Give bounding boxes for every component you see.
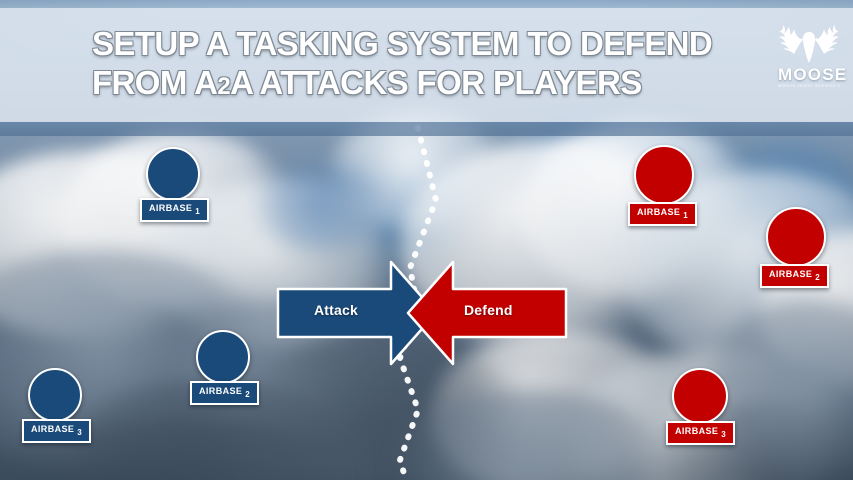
airbase-dot [146, 147, 200, 201]
airbase-marker-red-1[interactable]: AIRBASE 1 [634, 145, 694, 205]
airbase-label-text: AIRBASE [637, 207, 680, 217]
slide-canvas: AIRBASE 1 AIRBASE 2 AIRBASE 3 AIRBASE 1 … [0, 0, 853, 480]
airbase-label: AIRBASE 2 [760, 264, 829, 288]
title-line-2c: A ATTACKS FOR PLAYERS [230, 64, 642, 101]
airbase-marker-red-3[interactable]: AIRBASE 3 [672, 368, 728, 424]
airbase-dot [196, 330, 250, 384]
airbase-label-number: 2 [245, 390, 250, 399]
airbase-dot [766, 207, 826, 267]
airbase-dot [28, 368, 82, 422]
title-line-2b: 2 [217, 73, 230, 100]
airbase-label-number: 3 [77, 428, 82, 437]
airbase-dot [634, 145, 694, 205]
airbase-label-number: 1 [683, 211, 688, 220]
title-line-2a: FROM A [92, 64, 217, 101]
airbase-dot [672, 368, 728, 424]
airbase-label: AIRBASE 1 [628, 202, 697, 226]
airbase-label: AIRBASE 1 [140, 198, 209, 222]
airbase-label-number: 3 [721, 430, 726, 439]
airbase-marker-blue-1[interactable]: AIRBASE 1 [146, 147, 200, 201]
airbase-marker-blue-2[interactable]: AIRBASE 2 [196, 330, 250, 384]
logo-wordmark: MOOSE [778, 67, 840, 83]
header-underline-strip [0, 122, 853, 136]
airbase-label: AIRBASE 3 [22, 419, 91, 443]
moose-antlers-icon [778, 18, 840, 66]
header-top-strip [0, 0, 853, 8]
airbase-label-number: 2 [815, 273, 820, 282]
airbase-marker-blue-3[interactable]: AIRBASE 3 [28, 368, 82, 422]
logo-tagline: MISSION OBJECT ORIENTED SCRIPTING ENVIRO… [778, 83, 840, 89]
page-title: SETUP A TASKING SYSTEM TO DEFENDFROM A2A… [92, 24, 742, 106]
moose-logo[interactable]: MOOSE MISSION OBJECT ORIENTED SCRIPTING … [778, 18, 840, 96]
airbase-label: AIRBASE 3 [666, 421, 735, 445]
airbase-marker-red-2[interactable]: AIRBASE 2 [766, 207, 826, 267]
title-line-1: SETUP A TASKING SYSTEM TO DEFEND [92, 25, 712, 62]
airbase-label-text: AIRBASE [149, 203, 192, 213]
airbase-label: AIRBASE 2 [190, 381, 259, 405]
airbase-label-number: 1 [195, 207, 200, 216]
attack-arrow-label: Attack [314, 302, 358, 318]
airbase-label-text: AIRBASE [199, 386, 242, 396]
airbase-label-text: AIRBASE [675, 426, 718, 436]
attack-defend-arrows: Attack Defend [272, 258, 572, 368]
airbase-label-text: AIRBASE [769, 269, 812, 279]
airbase-label-text: AIRBASE [31, 424, 74, 434]
defend-arrow-label: Defend [464, 302, 513, 318]
